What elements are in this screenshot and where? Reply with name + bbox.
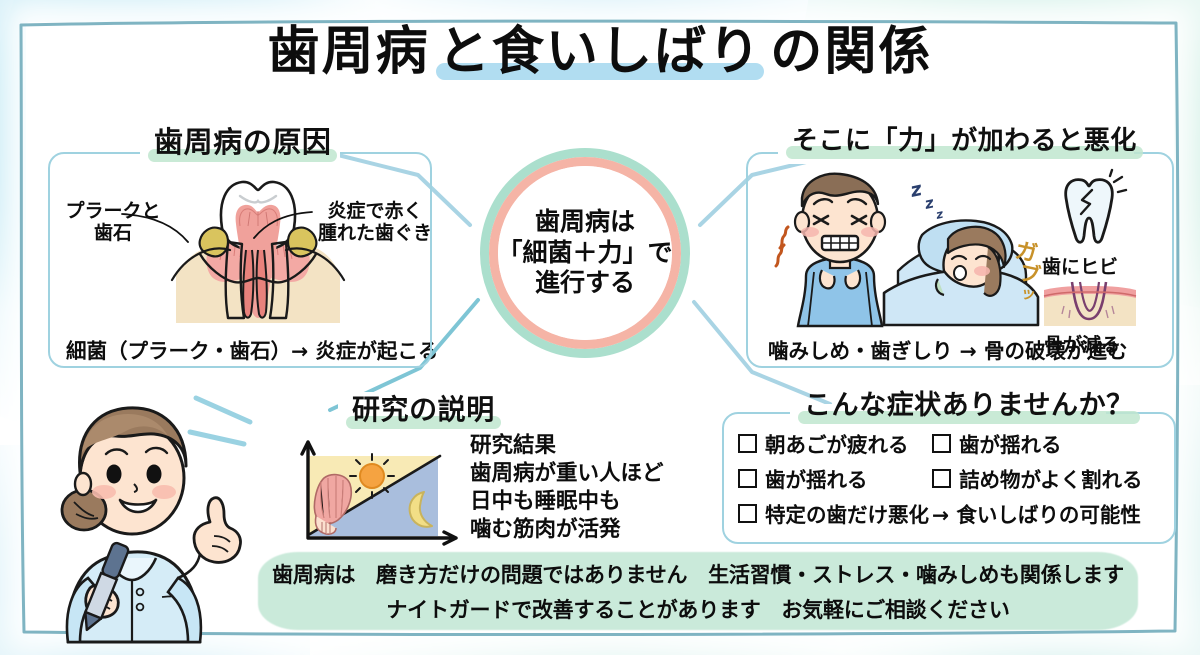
panel-symptoms xyxy=(722,412,1176,544)
study-graph-icon xyxy=(288,440,458,548)
hub-core: 歯周病は 「細菌＋力」で 進行する xyxy=(498,166,672,340)
hub-line-2-highlight: 細菌＋力 xyxy=(523,238,623,267)
dental-hygienist-character xyxy=(28,392,268,642)
page-title-post: の関係 xyxy=(770,22,932,82)
footer-line-2: ナイトガードで改善することがあります お気軽にご相談ください xyxy=(386,594,1009,624)
panel-study-title: 研究の説明 xyxy=(338,396,509,426)
page-title: 歯周病と食いしばりの関係 xyxy=(0,26,1200,78)
svg-text:z: z xyxy=(922,193,936,213)
svg-text:z: z xyxy=(934,207,946,223)
central-message-circle: 歯周病は 「細菌＋力」で 進行する xyxy=(480,148,690,358)
svg-text:z: z xyxy=(907,178,924,202)
cause-leader-lines xyxy=(60,190,360,270)
sleeping-woman-illustration: z z z ガ ブ ッ xyxy=(882,175,1052,330)
page-title-pre: 歯周病 xyxy=(268,22,430,82)
hub-line-1: 歯周病は xyxy=(535,207,635,238)
panel-force-title: そこに「力」が加わると悪化 xyxy=(778,128,1151,156)
hub-line-3: 進行する xyxy=(535,268,635,299)
panel-symptoms-title: こんな症状ありませんか？ xyxy=(790,392,1148,421)
hub-line-2: 「細菌＋力」で xyxy=(497,238,672,269)
cracked-tooth-icon xyxy=(1052,176,1126,248)
page-title-highlight: と食いしばり xyxy=(430,26,770,78)
infographic-canvas: 歯周病と食いしばりの関係 歯周病の原因 xyxy=(0,0,1200,655)
footer-line-1: 歯周病は 磨き方だけの問題ではありません 生活習慣・ストレス・噛みしめも関係しま… xyxy=(272,559,1124,589)
footer-message: 歯周病は 磨き方だけの問題ではありません 生活習慣・ストレス・噛みしめも関係しま… xyxy=(258,552,1138,630)
panel-causes-title: 歯周病の原因 xyxy=(140,128,345,159)
bone-loss-icon xyxy=(1042,276,1138,328)
